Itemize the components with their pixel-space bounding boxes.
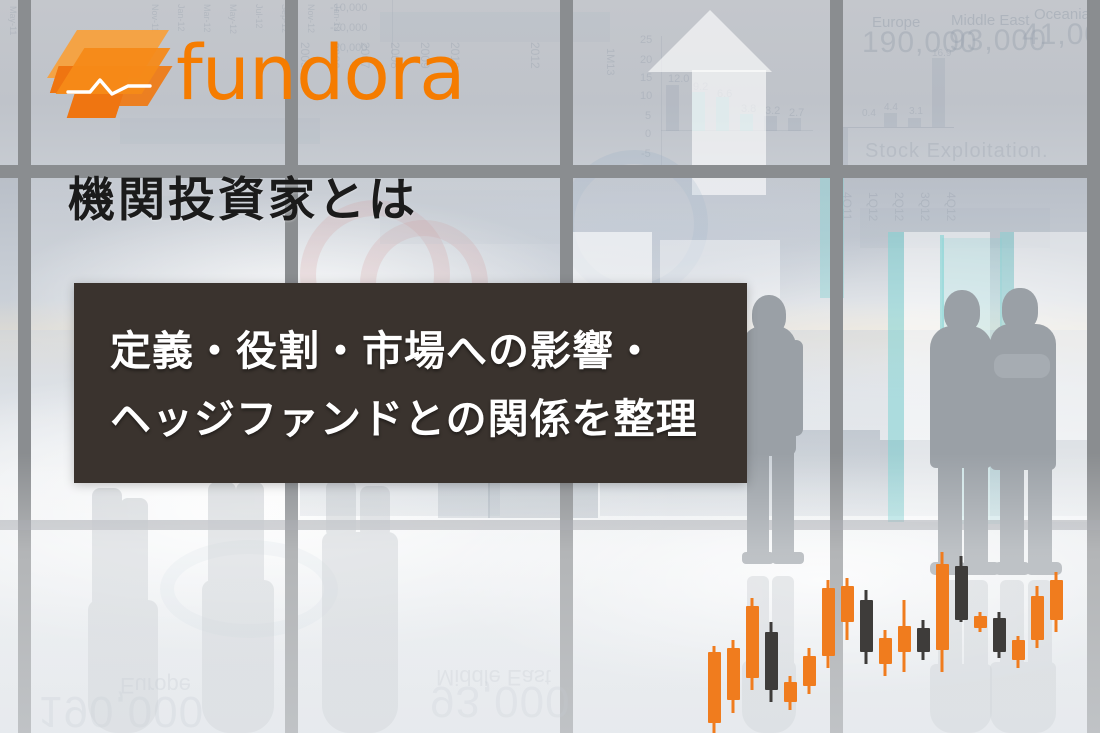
candle-body — [803, 656, 816, 686]
candle-body — [708, 652, 721, 723]
candlestick-17 — [1031, 586, 1044, 648]
hero-banner: -10,000 -20,000 -30,000 May-11 Nov-11 Ja… — [0, 0, 1100, 733]
candle-body — [936, 564, 949, 650]
candle-body — [917, 628, 930, 652]
candle-body — [974, 616, 987, 628]
candlestick-7 — [841, 578, 854, 640]
candle-body — [841, 586, 854, 622]
bg-bar-6 — [788, 118, 801, 131]
candlestick-16 — [1012, 636, 1025, 668]
candlestick-2 — [746, 598, 759, 690]
candle-body — [898, 626, 911, 652]
bg-rbar-3 — [932, 58, 945, 127]
candle-body — [727, 648, 740, 700]
fundora-mark-icon — [48, 26, 160, 118]
candle-body — [746, 606, 759, 678]
candle-body — [1050, 580, 1063, 620]
candle-body — [822, 588, 835, 656]
candlestick-3 — [765, 622, 778, 702]
candle-body — [860, 600, 873, 652]
subtitle-line-2: ヘッジファンドとの関係を整理 — [110, 395, 698, 443]
candlestick-1 — [727, 640, 740, 713]
subtitle-line-1: 定義・役割・市場への影響・ — [110, 327, 656, 375]
candlestick-0 — [708, 646, 721, 733]
candlestick-6 — [822, 580, 835, 668]
candlestick-9 — [879, 630, 892, 676]
candle-body — [1012, 640, 1025, 660]
candlestick-18 — [1050, 572, 1063, 632]
candlestick-10 — [898, 600, 911, 672]
candlestick-15 — [993, 612, 1006, 658]
candle-body — [879, 638, 892, 664]
candlestick-4 — [784, 676, 797, 710]
candlestick-13 — [955, 556, 968, 622]
candle-body — [784, 682, 797, 702]
bg-rbar-1 — [884, 113, 897, 127]
candlestick-14 — [974, 612, 987, 632]
candlestick-11 — [917, 620, 930, 660]
candle-body — [955, 566, 968, 620]
candlestick-8 — [860, 590, 873, 664]
bg-rbar-2 — [908, 118, 921, 127]
candlestick-5 — [803, 648, 816, 694]
right-baseline — [832, 127, 954, 128]
candlestick-12 — [936, 552, 949, 672]
brand-wordmark: fundora — [176, 32, 465, 114]
candle-body — [993, 618, 1006, 652]
subtitle-panel: 定義・役割・市場への影響・ ヘッジファンドとの関係を整理 — [74, 283, 747, 483]
candle-body — [765, 632, 778, 690]
up-arrow-icon — [648, 10, 772, 72]
bg-bar-1 — [666, 85, 679, 131]
candle-body — [1031, 596, 1044, 640]
page-title: 機関投資家とは — [68, 172, 418, 230]
brand-logo[interactable]: fundora — [48, 26, 428, 122]
zigzag-line-icon — [66, 76, 152, 98]
